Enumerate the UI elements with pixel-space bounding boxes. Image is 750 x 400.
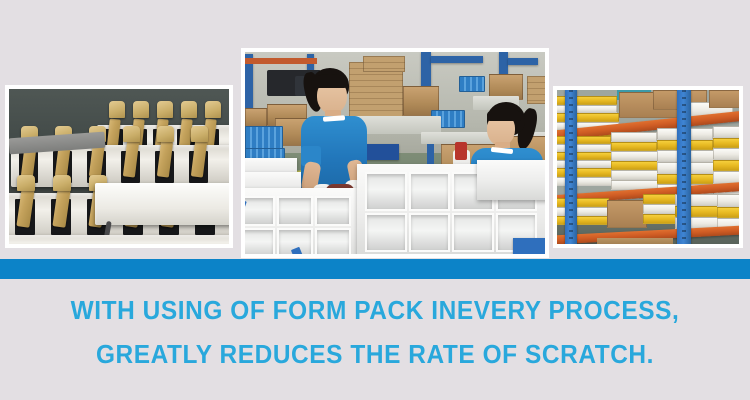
warehouse-rack-beam <box>245 58 317 64</box>
cardboard-box <box>709 90 739 108</box>
blue-bin <box>513 238 545 254</box>
yellow-banded-box <box>643 214 679 224</box>
foam-box <box>713 126 739 138</box>
yellow-banded-box <box>713 138 739 148</box>
cardboard-box <box>607 200 647 228</box>
yellow-banded-box <box>713 160 739 171</box>
foam-block <box>95 183 229 225</box>
foam-cell <box>277 196 313 226</box>
foam-cell <box>452 213 494 252</box>
accent-divider-bar <box>0 259 750 279</box>
foam-box <box>717 194 739 207</box>
foam-cell <box>245 228 275 254</box>
yellow-banded-box <box>611 161 659 170</box>
cardboard-box <box>245 108 267 128</box>
foam-cell <box>315 196 351 226</box>
spray-tool-trigger <box>455 142 467 160</box>
brass-part-head <box>133 101 149 118</box>
foam-box <box>611 151 659 161</box>
caption-line-2: GREATLY REDUCES THE RATE OF SCRATCH. <box>23 332 728 376</box>
photo-warehouse-racking-foam-boxes <box>553 86 743 248</box>
brass-part-head <box>17 175 35 191</box>
rack-upright <box>565 90 577 244</box>
rack-upright <box>677 90 691 244</box>
yellow-banded-box <box>643 194 677 204</box>
brass-part-head <box>191 126 208 142</box>
foam-cell <box>245 196 275 226</box>
blue-crate <box>459 76 485 92</box>
caption-line-1: WITH USING OF FORM PACK INEVERY PROCESS, <box>23 288 728 332</box>
foam-tray <box>477 160 545 200</box>
foam-box <box>643 204 677 214</box>
yellow-banded-box <box>611 142 657 151</box>
brass-part-head <box>157 126 174 142</box>
warehouse-rack-upright <box>421 52 431 86</box>
foam-tray-bottom <box>9 235 229 244</box>
wooden-pallet <box>597 238 673 244</box>
brass-part-head <box>123 126 140 142</box>
foam-cell <box>365 172 407 211</box>
photo-right-inner <box>557 90 739 244</box>
brass-part-head <box>109 101 125 118</box>
photo-left-inner <box>9 89 229 244</box>
photo-brass-parts-in-foam <box>5 85 233 248</box>
warehouse-rack-beam <box>431 56 483 63</box>
yellow-banded-box <box>717 207 739 218</box>
worker-hair-fringe <box>487 108 521 121</box>
brass-part-head <box>157 101 173 118</box>
foam-cell <box>409 213 451 252</box>
brass-part-head <box>181 101 197 118</box>
warehouse-rack-beam <box>508 58 538 65</box>
photo-center-inner <box>245 52 545 254</box>
worker-hair-fringe <box>313 74 347 88</box>
caption-block: WITH USING OF FORM PACK INEVERY PROCESS,… <box>0 288 750 376</box>
foam-box <box>713 148 739 160</box>
photo-workers-packing-foam-trays <box>241 48 549 258</box>
foam-cell <box>315 228 351 254</box>
cardboard-stack <box>527 76 545 104</box>
brass-part-head <box>205 101 221 118</box>
foam-cell <box>409 172 451 211</box>
foam-box <box>611 132 657 142</box>
promo-banner: WITH USING OF FORM PACK INEVERY PROCESS,… <box>0 0 750 400</box>
brass-part-head <box>53 175 71 191</box>
foam-cells-left <box>245 196 351 254</box>
foam-cell <box>365 213 407 252</box>
foam-box <box>611 170 661 180</box>
